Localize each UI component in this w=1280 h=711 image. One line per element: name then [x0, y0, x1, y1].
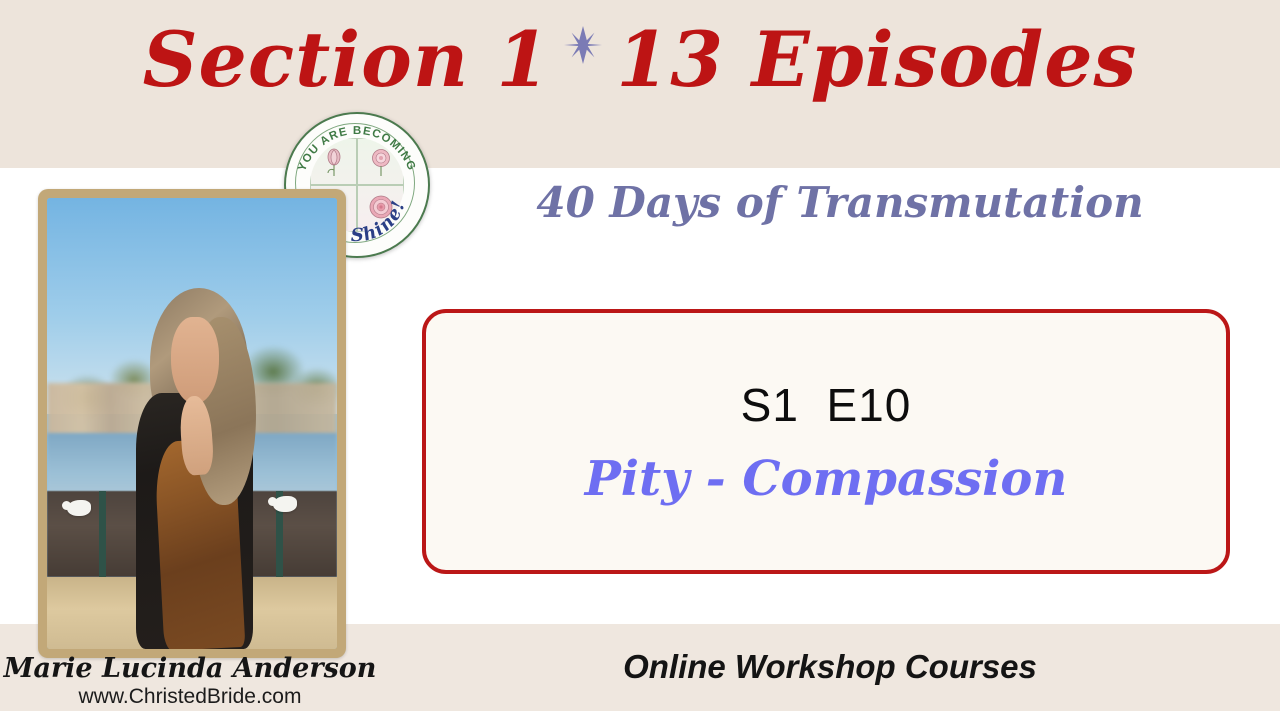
slide-canvas: Section 1 13 Episodes	[0, 0, 1280, 711]
section-label: Section 1	[143, 15, 551, 104]
dove-icon	[67, 500, 91, 516]
episode-code: S1 E10	[741, 376, 912, 434]
rose-open-icon	[357, 185, 404, 232]
rose-bud-icon	[310, 138, 357, 185]
photo-railing-post	[99, 491, 106, 577]
photo-person	[125, 288, 264, 649]
website-url[interactable]: www.ChristedBride.com	[0, 684, 380, 709]
episodes-label: 13 Episodes	[616, 15, 1137, 104]
presenter-name: Marie Lucinda Anderson	[0, 652, 380, 686]
six-point-star-icon	[564, 26, 602, 64]
episode-card: S1 E10 Pity - Compassion	[422, 309, 1230, 574]
speaker-photo-frame	[38, 189, 346, 658]
dove-icon	[273, 496, 297, 512]
photo-person-face	[171, 317, 218, 404]
series-subtitle: 40 Days of Transmutation	[400, 172, 1280, 234]
episode-theme: Pity - Compassion	[585, 444, 1068, 514]
speaker-photo	[47, 198, 337, 649]
page-title: Section 1 13 Episodes	[0, 8, 1280, 112]
footer-tagline: Online Workshop Courses	[380, 645, 1280, 689]
rose-bloom-icon	[357, 138, 404, 185]
